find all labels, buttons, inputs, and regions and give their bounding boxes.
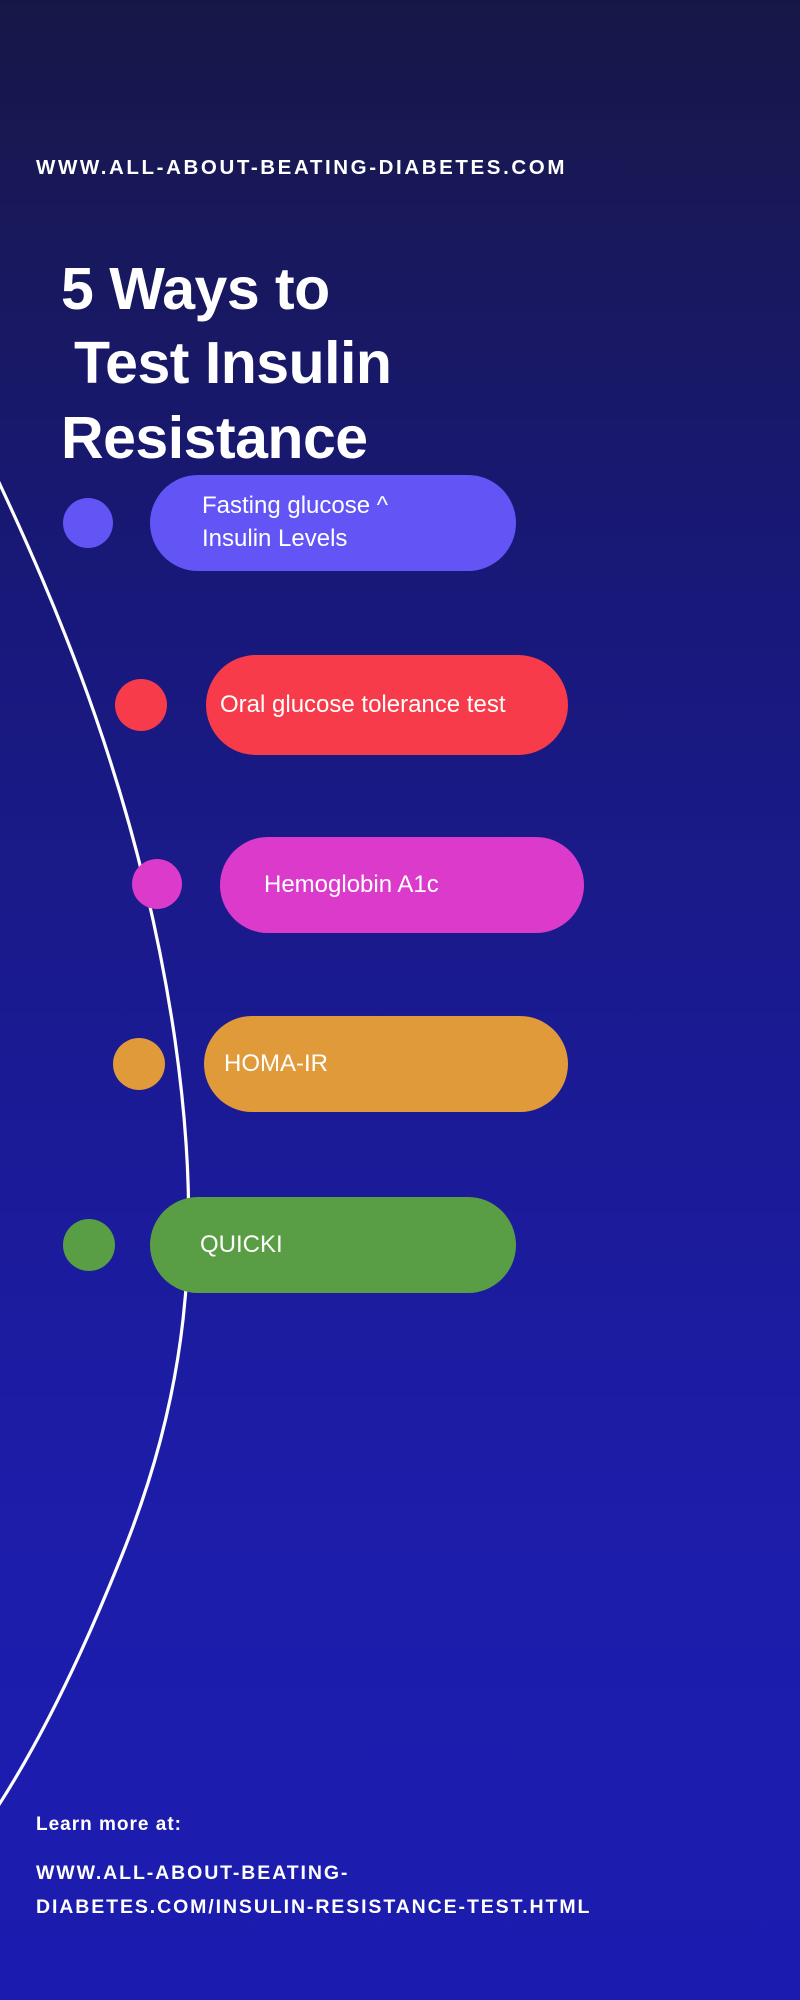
timeline-dot-5 [63,1219,115,1271]
timeline-dot-3 [132,859,182,909]
footer-lead-text: Learn more at: [36,1814,766,1836]
list-item-pill-2[interactable]: Oral glucose tolerance test [206,655,568,755]
list-item-label-3: Hemoglobin A1c [264,869,439,902]
footer-url-line-2: DIABETES.COM/INSULIN-RESISTANCE-TEST.HTM… [36,1890,766,1924]
infographic-poster: WWW.ALL-ABOUT-BEATING-DIABETES.COM 5 Way… [0,0,800,2000]
list-item-label-2: Oral glucose tolerance test [220,689,505,722]
timeline-dot-2 [115,679,167,731]
timeline-dot-4 [113,1038,165,1090]
list-item-label-4: HOMA-IR [224,1048,328,1081]
footer-url-line-1: WWW.ALL-ABOUT-BEATING- [36,1856,766,1890]
footer: Learn more at: WWW.ALL-ABOUT-BEATING- DI… [36,1814,766,1924]
list-item-pill-5[interactable]: QUICKI [150,1197,516,1293]
timeline-list: Fasting glucose ^ Insulin Levels Oral gl… [0,0,800,2000]
list-item-pill-1[interactable]: Fasting glucose ^ Insulin Levels [150,475,516,571]
list-item-label-1: Fasting glucose ^ Insulin Levels [202,490,388,555]
list-item-pill-4[interactable]: HOMA-IR [204,1016,568,1112]
list-item-pill-3[interactable]: Hemoglobin A1c [220,837,584,933]
footer-url[interactable]: WWW.ALL-ABOUT-BEATING- DIABETES.COM/INSU… [36,1856,766,1924]
timeline-dot-1 [63,498,113,548]
list-item-label-5: QUICKI [200,1229,283,1262]
